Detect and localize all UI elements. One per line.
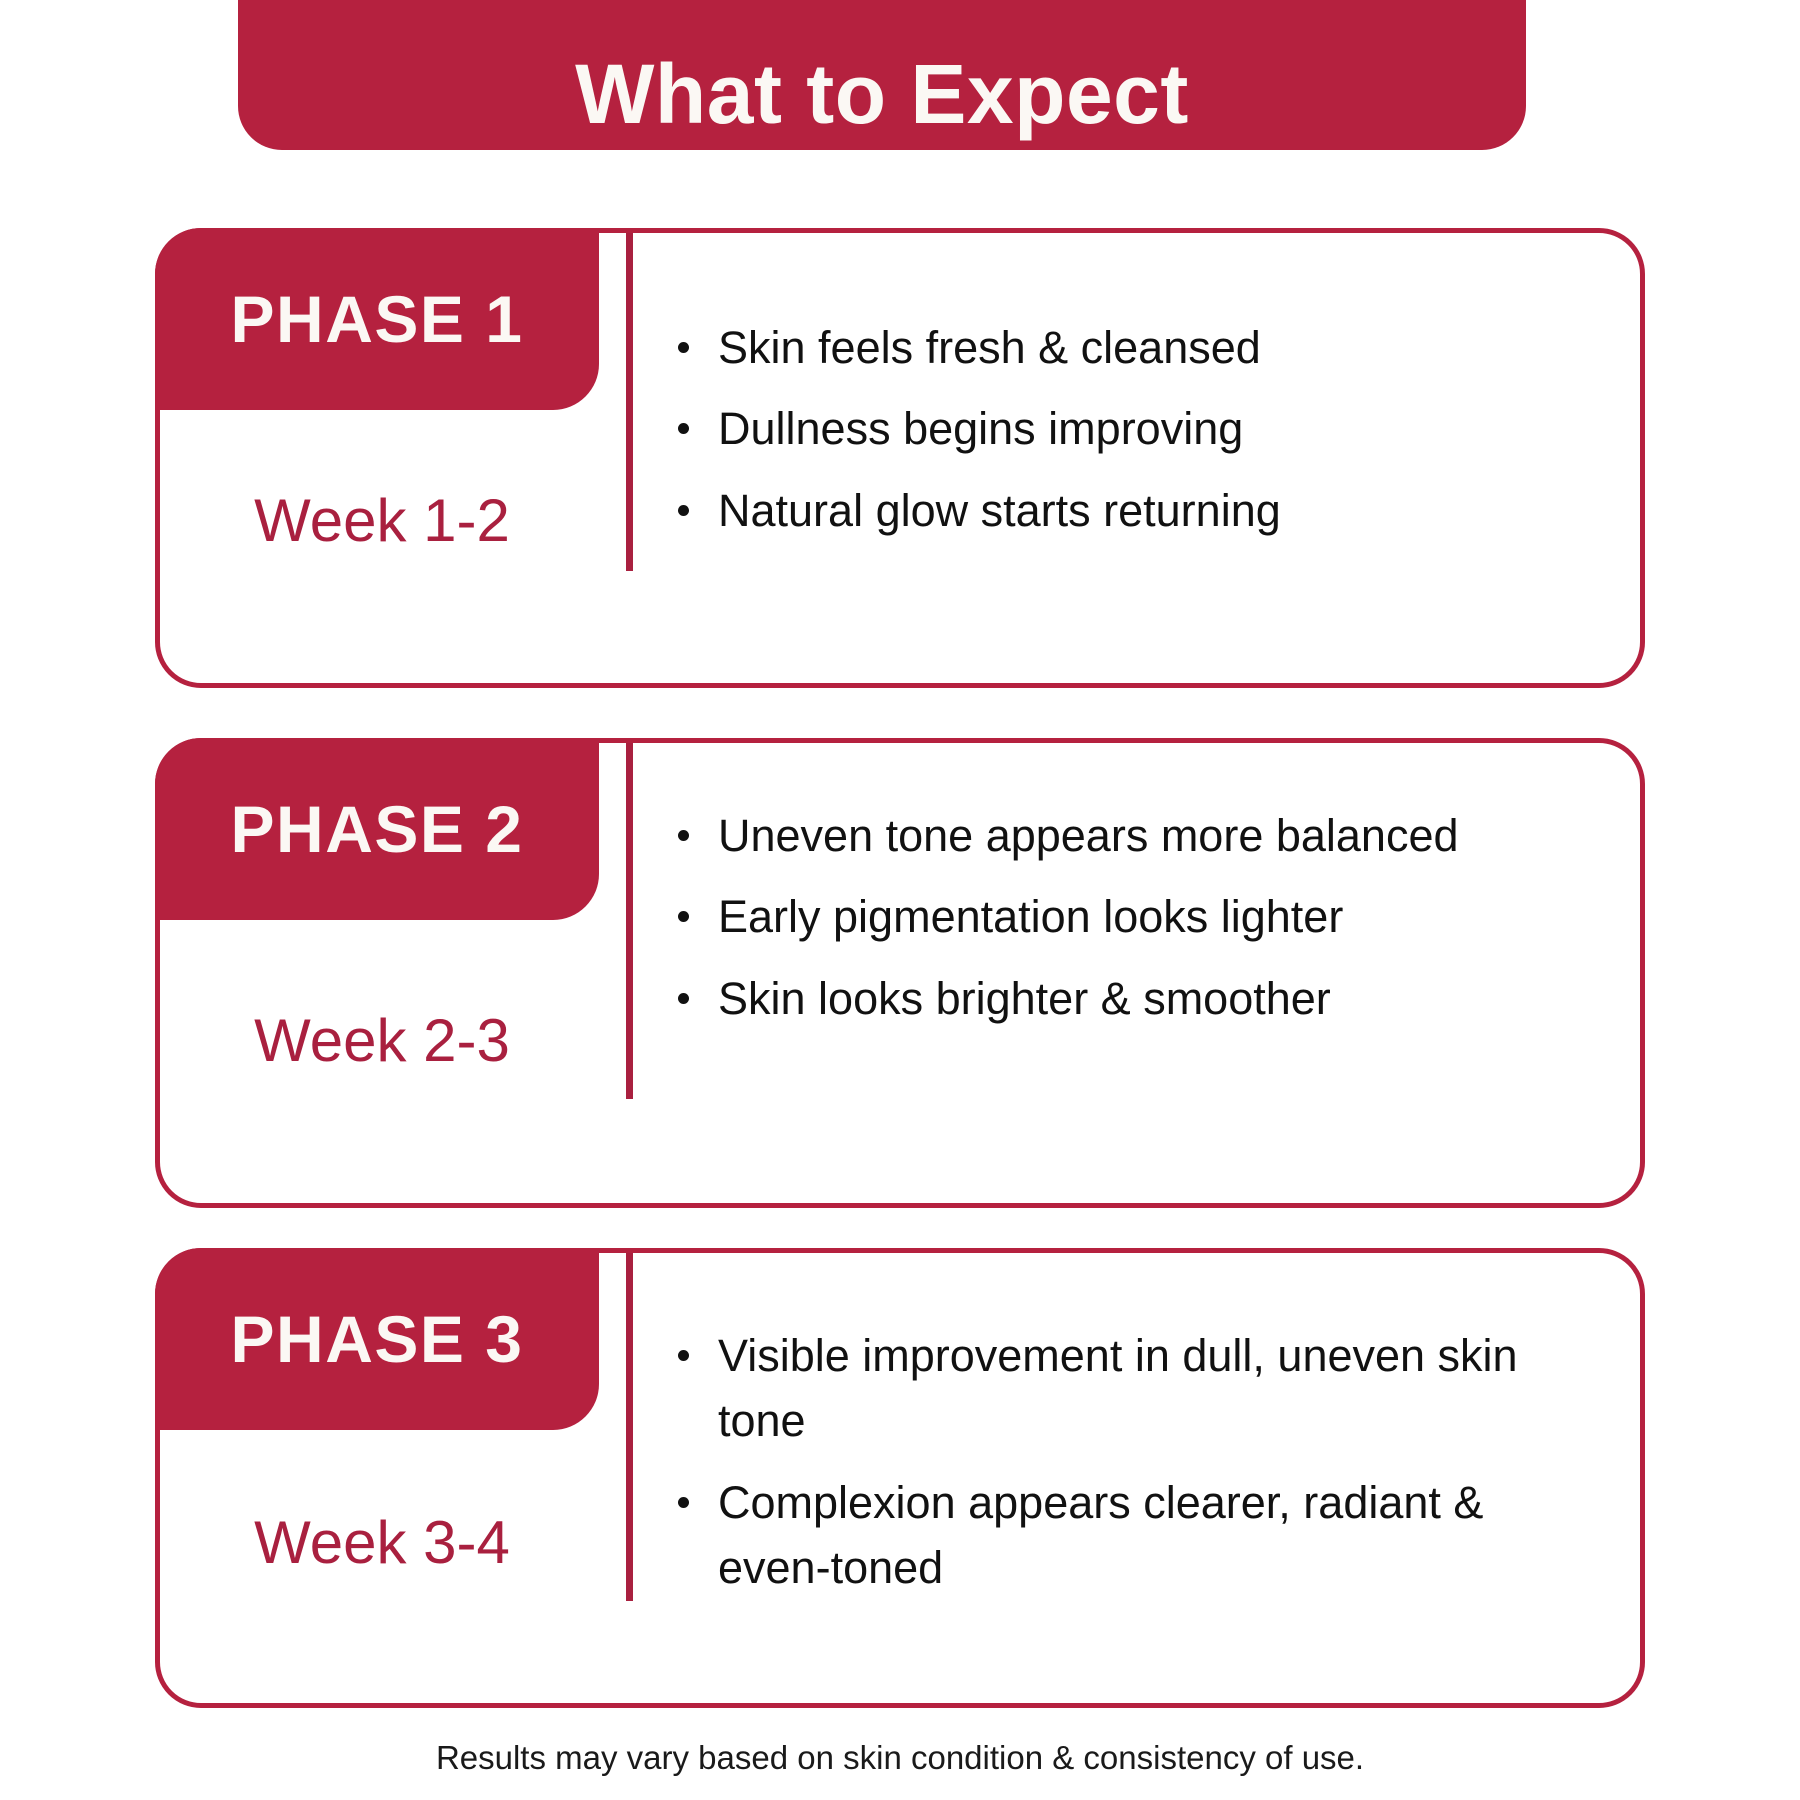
phase-divider-1 [626, 233, 633, 571]
bullet-dot-icon [678, 505, 689, 516]
phase-card-1: PHASE 1 Week 1-2 Skin feels fresh & clea… [155, 228, 1645, 688]
bullet-dot-icon [678, 342, 689, 353]
phase-bullets-3: Visible improvement in dull, uneven skin… [670, 1323, 1590, 1600]
phase-badge-label-2: PHASE 2 [231, 796, 524, 862]
phase-card-2: PHASE 2 Week 2-3 Uneven tone appears mor… [155, 738, 1645, 1208]
list-item: Early pigmentation looks lighter [670, 884, 1590, 949]
phase-divider-2 [626, 743, 633, 1099]
bullet-text: Uneven tone appears more balanced [718, 810, 1459, 861]
bullet-dot-icon [678, 423, 689, 434]
list-item: Skin feels fresh & cleansed [670, 315, 1590, 380]
list-item: Visible improvement in dull, uneven skin… [670, 1323, 1590, 1454]
bullet-dot-icon [678, 911, 689, 922]
phase-badge-2: PHASE 2 [155, 738, 599, 920]
list-item: Uneven tone appears more balanced [670, 803, 1590, 868]
bullet-dot-icon [678, 1497, 689, 1508]
phase-week-label-1: Week 1-2 [160, 491, 604, 551]
bullet-dot-icon [678, 830, 689, 841]
phase-week-label-2: Week 2-3 [160, 1011, 604, 1071]
title-banner: What to Expect [238, 0, 1526, 150]
bullet-text: Skin looks brighter & smoother [718, 973, 1331, 1024]
list-item: Natural glow starts returning [670, 478, 1590, 543]
bullet-text: Dullness begins improving [718, 403, 1243, 454]
phase-bullets-2: Uneven tone appears more balanced Early … [670, 803, 1590, 1031]
phase-badge-3: PHASE 3 [155, 1248, 599, 1430]
bullet-text: Natural glow starts returning [718, 485, 1281, 536]
bullet-text: Early pigmentation looks lighter [718, 891, 1343, 942]
phase-badge-1: PHASE 1 [155, 228, 599, 410]
phase-badge-label-1: PHASE 1 [231, 286, 524, 352]
bullet-text: Skin feels fresh & cleansed [718, 322, 1261, 373]
page-title: What to Expect [575, 52, 1189, 136]
phase-week-label-3: Week 3-4 [160, 1513, 604, 1573]
bullet-text: Visible improvement in dull, uneven skin… [718, 1330, 1518, 1446]
phase-divider-3 [626, 1253, 633, 1601]
phase-bullets-1: Skin feels fresh & cleansed Dullness beg… [670, 315, 1590, 543]
phase-badge-label-3: PHASE 3 [231, 1306, 524, 1372]
list-item: Skin looks brighter & smoother [670, 966, 1590, 1031]
bullet-text: Complexion appears clearer, radiant & ev… [718, 1477, 1483, 1593]
bullet-dot-icon [678, 993, 689, 1004]
phase-card-3: PHASE 3 Week 3-4 Visible improvement in … [155, 1248, 1645, 1708]
list-item: Complexion appears clearer, radiant & ev… [670, 1470, 1590, 1601]
bullet-dot-icon [678, 1350, 689, 1361]
list-item: Dullness begins improving [670, 396, 1590, 461]
footer-disclaimer: Results may vary based on skin condition… [0, 1738, 1800, 1778]
